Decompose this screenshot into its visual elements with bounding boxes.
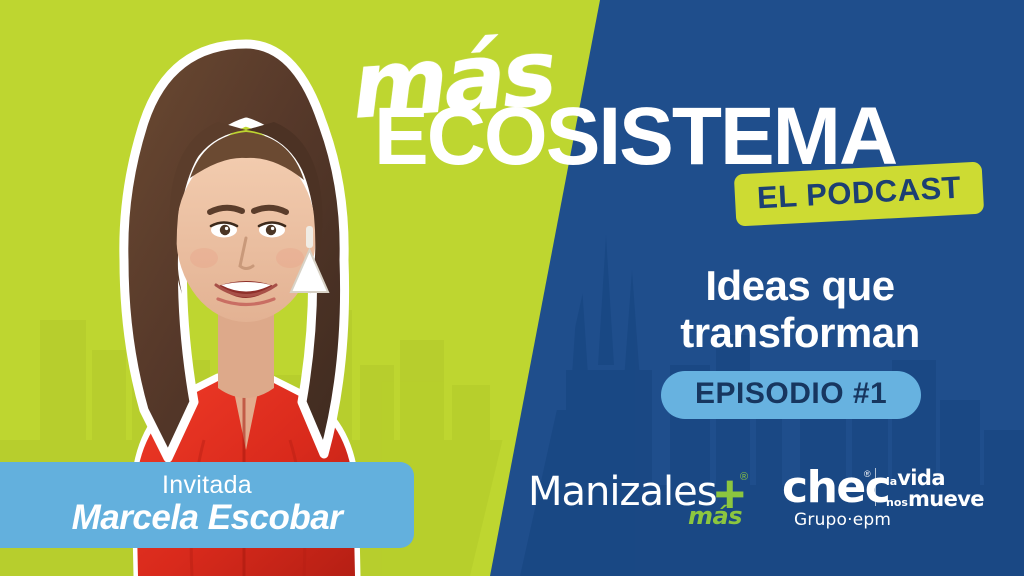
chec-registered-icon: ® — [864, 470, 871, 479]
chec-grupo-epm: Grupo·epm — [794, 510, 891, 530]
chec-tagline-la: la — [886, 476, 897, 487]
guest-name-banner: Invitada Marcela Escobar — [0, 462, 414, 548]
chec-divider — [875, 468, 876, 506]
chec-tagline: la vida nos mueve — [886, 468, 984, 511]
chec-tagline-vida: vida — [897, 468, 945, 489]
podcast-promo-poster: más ECOSISTEMA EL PODCAST Ideas que tran… — [0, 0, 1024, 576]
episode-badge: EPISODIO #1 — [661, 371, 921, 419]
guest-name: Marcela Escobar — [72, 499, 343, 538]
manizales-mas-subword: más — [688, 504, 742, 528]
chec-wordmark: chec — [782, 466, 889, 510]
chec-tagline-nos: nos — [886, 497, 908, 508]
tagline-line-1: Ideas que — [705, 262, 894, 309]
manizales-registered-icon: ® — [740, 472, 748, 483]
tagline: Ideas que transforman — [650, 262, 950, 356]
guest-role-label: Invitada — [162, 472, 252, 498]
chec-tagline-mueve: mueve — [908, 489, 984, 510]
chec-logo: chec ® la vida nos mueve Grupo·epm — [782, 466, 982, 538]
manizales-mas-logo: Manizales + ® más — [528, 468, 748, 534]
tagline-line-2: transforman — [650, 309, 950, 356]
